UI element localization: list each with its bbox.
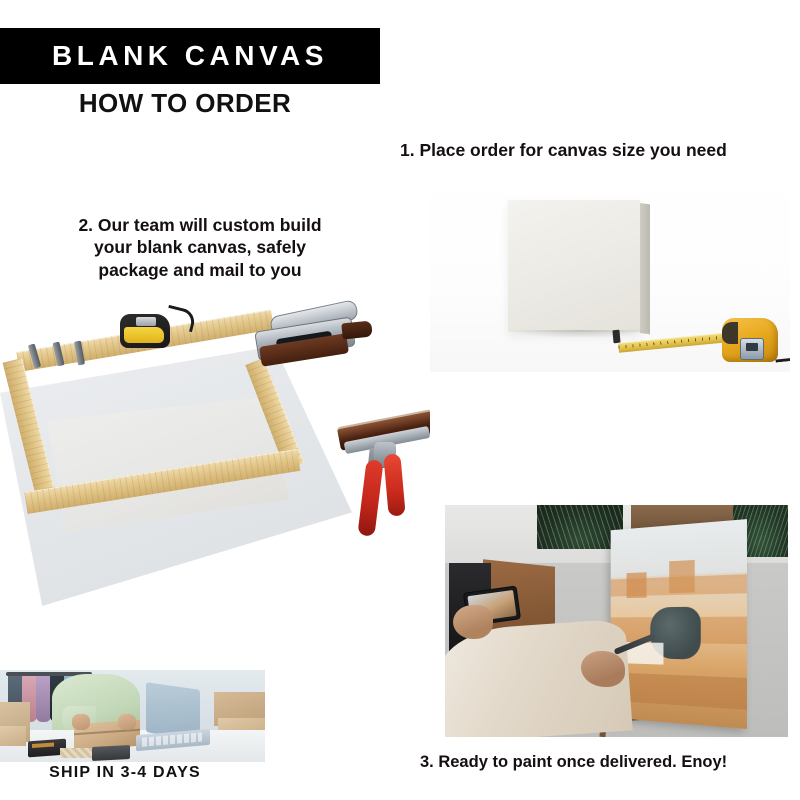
step-3-photo-painting bbox=[445, 505, 788, 737]
step-1-caption: 1. Place order for canvas size you need bbox=[400, 139, 780, 161]
canvas-pliers-handle-left bbox=[357, 459, 383, 537]
desk-phone bbox=[92, 745, 130, 761]
painting-on-canvas bbox=[611, 519, 747, 729]
step-2-line-3: package and mail to you bbox=[45, 259, 355, 281]
packer-hand-left bbox=[72, 714, 90, 730]
artist-hand-holding-phone bbox=[453, 605, 493, 639]
painting-band bbox=[611, 672, 747, 710]
step-2-photo-frame-build bbox=[0, 300, 430, 630]
tape-measure-case-trim bbox=[722, 322, 738, 344]
brand-title: BLANK CANVAS bbox=[52, 42, 328, 70]
staple-gun-nose bbox=[341, 320, 373, 339]
title-banner: BLANK CANVAS bbox=[0, 28, 380, 84]
tape-measure-strap bbox=[774, 346, 790, 362]
blank-canvas-face bbox=[508, 200, 640, 332]
step-3-caption: 3. Ready to paint once delivered. Enoy! bbox=[420, 752, 780, 773]
canvas-shadow bbox=[510, 330, 650, 338]
painting-building-block bbox=[627, 572, 647, 598]
tape-measure-small-body bbox=[124, 327, 164, 343]
shipping-label: SHIP IN 3-4 DAYS bbox=[10, 764, 240, 782]
subtitle: HOW TO ORDER bbox=[0, 88, 370, 119]
cardboard-box-left-lower bbox=[0, 726, 26, 746]
blank-canvas-edge bbox=[640, 203, 650, 334]
shipping-photo-packing bbox=[0, 670, 265, 762]
packer-hand-right bbox=[118, 714, 136, 730]
step-2-line-2: your blank canvas, safely bbox=[45, 236, 355, 258]
canvas-pliers bbox=[338, 412, 430, 562]
artist-hand-painting bbox=[581, 651, 625, 687]
step-2-line-1: 2. Our team will custom build bbox=[45, 214, 355, 236]
packing-filler bbox=[60, 748, 94, 758]
tape-measure-lock bbox=[740, 338, 764, 360]
step-1-photo-blank-canvas bbox=[430, 172, 790, 372]
tape-measure-small-clip bbox=[136, 317, 156, 326]
tape-measure-small bbox=[120, 314, 170, 348]
staple-gun bbox=[250, 302, 375, 382]
canvas-pliers-handle-right bbox=[383, 453, 405, 516]
tape-measure-hook bbox=[612, 330, 620, 344]
hanging-garment bbox=[36, 676, 51, 722]
step-2-caption: 2. Our team will custom build your blank… bbox=[45, 214, 355, 281]
infographic-page: BLANK CANVAS HOW TO ORDER 1. Place order… bbox=[0, 0, 800, 800]
painting-building-block bbox=[669, 560, 695, 593]
